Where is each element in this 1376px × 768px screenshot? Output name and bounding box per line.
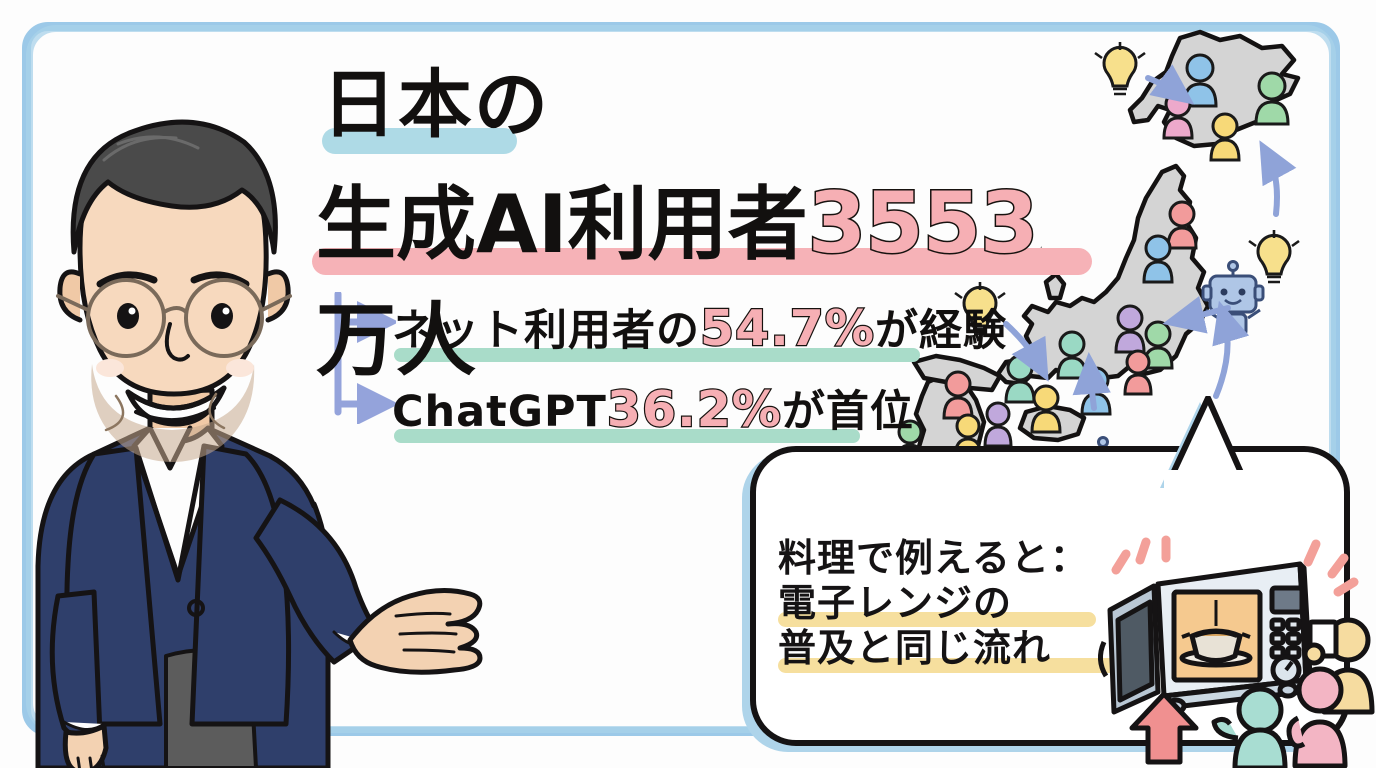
speech-bubble-tail xyxy=(1150,396,1270,476)
bullet-1-prefix: ネット利用者の xyxy=(392,306,700,356)
bubble-line-1-text: 料理で例えると： xyxy=(778,536,1089,580)
bubble-line-3: 普及と同じ流れ xyxy=(778,626,1138,671)
bullet-1-number: 54.7 xyxy=(700,300,825,357)
bullet-2-prefix: ChatGPT xyxy=(392,387,607,437)
bubble-line-2-text: 電子レンジの xyxy=(778,581,1012,625)
microwave-illustration xyxy=(1092,530,1376,768)
bullet-1: ネット利用者の54.7%が経験 xyxy=(392,296,1007,358)
headline-line-1-text: 日本の xyxy=(322,62,550,148)
bubble-line-3-text: 普及と同じ流れ xyxy=(778,626,1051,670)
bubble-line-1: 料理で例えると： xyxy=(778,536,1138,581)
bullet-2-number: 36.2 xyxy=(607,381,732,438)
bullet-2: ChatGPT36.2%が首位 xyxy=(392,377,914,439)
headline-line-2-prefix: 生成AI利用者 xyxy=(316,178,808,271)
bullet-2-unit: % xyxy=(732,381,782,438)
bullet-1-suffix: が経験 xyxy=(875,306,1007,356)
headline-number: 3553 xyxy=(808,174,1038,272)
speech-bubble-text: 料理で例えると： 電子レンジの 普及と同じ流れ xyxy=(778,536,1138,670)
headline-line-1: 日本の xyxy=(322,68,1106,142)
bullet-2-suffix: が首位 xyxy=(782,387,914,437)
bubble-line-2: 電子レンジの xyxy=(778,581,1138,626)
infographic-canvas: 日本の 生成AI利用者3553万人 ネット利用者の54.7%が経験 ChatG xyxy=(0,0,1376,768)
bullet-1-unit: % xyxy=(825,300,875,357)
